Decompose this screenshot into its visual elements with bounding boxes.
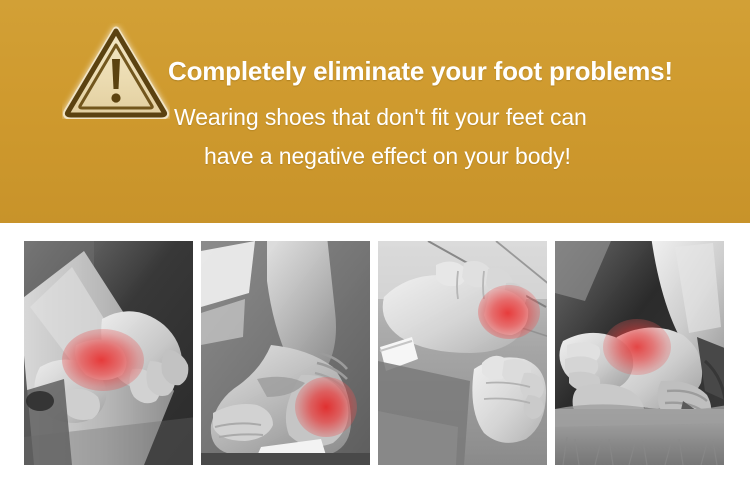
headline-banner: Completely eliminate your foot problems!…: [0, 0, 750, 223]
photo-image-1: [24, 241, 193, 465]
hands-holding-sore-foot-photo: [555, 241, 724, 465]
warning-triangle-icon: [62, 23, 170, 119]
banner-headline: Completely eliminate your foot problems!: [168, 54, 716, 88]
bare-feet-bunion-photo: [378, 241, 547, 465]
photo-image-4: [555, 241, 724, 465]
hands-massaging-ankle-photo: [24, 241, 193, 465]
foot-pain-photo-gallery: [24, 241, 724, 465]
banner-subline-1: Wearing shoes that don't fit your feet c…: [168, 98, 716, 137]
photo-image-2: [201, 241, 370, 465]
banner-subline-2: have a negative effect on your body!: [168, 137, 716, 176]
foot-problems-promo-banner: Completely eliminate your foot problems!…: [0, 0, 750, 477]
photo-image-3: [378, 241, 547, 465]
bare-heel-profile-photo: [201, 241, 370, 465]
banner-text-block: Completely eliminate your foot problems!…: [168, 54, 716, 176]
